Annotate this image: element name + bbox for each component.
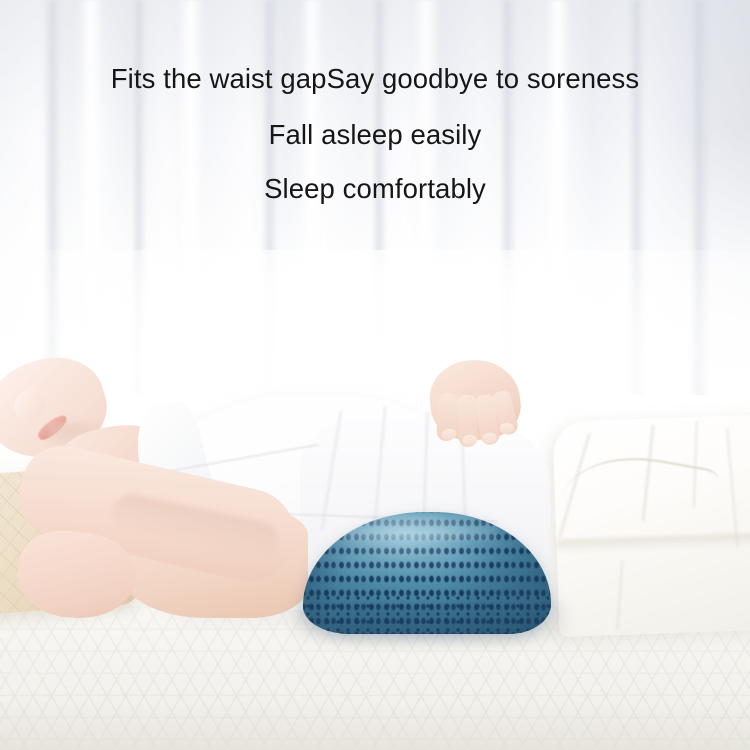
headline-line-3: Sleep comfortably (0, 172, 750, 206)
pillow-base-shadow (303, 600, 551, 634)
pillow-crest-highlight (337, 514, 497, 540)
resting-hand (426, 356, 524, 445)
nose (7, 383, 51, 426)
lumbar-support-pillow (303, 512, 551, 634)
headline-line-1: Fits the waist gapSay goodbye to sorenes… (0, 62, 750, 96)
product-banner: Fits the waist gapSay goodbye to sorenes… (0, 0, 750, 750)
duvet-fold (725, 428, 738, 548)
mattress-front-edge (0, 704, 750, 750)
headline-block: Fits the waist gapSay goodbye to sorenes… (0, 62, 750, 206)
headline-line-2: Fall asleep easily (0, 118, 750, 152)
